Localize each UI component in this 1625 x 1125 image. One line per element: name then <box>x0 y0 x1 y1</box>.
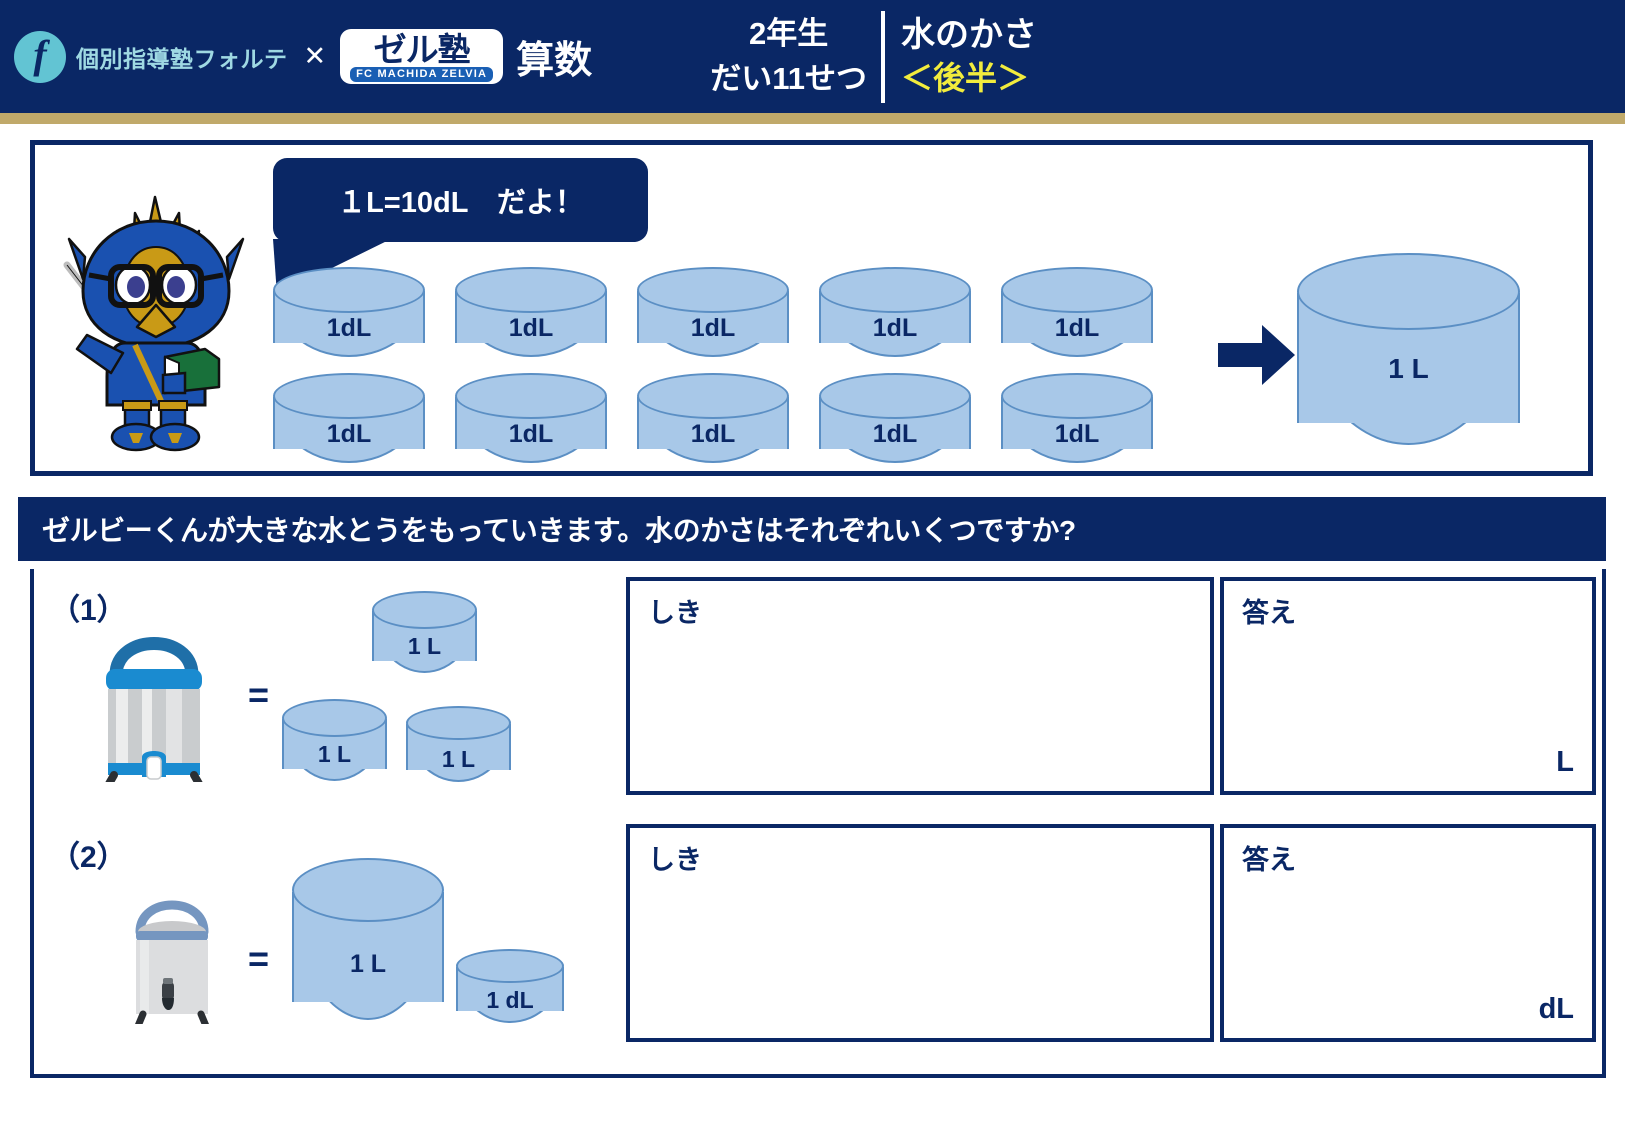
dl-cylinder-label: 1dL <box>455 420 607 449</box>
gray-water-jug-icon <box>116 874 228 1024</box>
forte-brand-name: 個別指導塾フォルテ <box>76 40 288 74</box>
dl-cylinder: 1dL <box>1001 267 1153 359</box>
dl-cylinder: 1dL <box>637 373 789 465</box>
blue-water-jug-icon <box>84 617 224 782</box>
answer-cylinder: 1 dL <box>456 949 564 1024</box>
dl-cylinder: 1dL <box>273 267 425 359</box>
answer-label: 答え <box>1242 838 1296 877</box>
result-cylinder-label: 1 L <box>1297 353 1520 385</box>
subject-label: 算数 <box>516 29 592 84</box>
answer-cylinder-label: 1 L <box>282 741 387 768</box>
question-banner: ゼルビーくんが大きな水とうをもっていきます。水のかさはそれぞれいくつですか? <box>18 497 1606 561</box>
result-cylinder: 1 L <box>1297 253 1520 450</box>
forte-logo-icon: f <box>14 31 66 83</box>
zeljuku-logo-main: ゼル塾 <box>374 33 470 67</box>
answer-label: 答え <box>1242 591 1296 630</box>
answer-unit: dL <box>1539 993 1574 1026</box>
equals-sign: = <box>248 674 269 716</box>
dl-cylinder-label: 1dL <box>1001 314 1153 343</box>
dl-cylinder-label: 1dL <box>819 314 971 343</box>
answer-cylinder: 1 L <box>292 858 444 1024</box>
grade-label: 2年生 <box>710 12 867 56</box>
question-row-2: （2） = 1 L <box>34 816 1602 1063</box>
answer-cylinder: 1 L <box>282 699 387 783</box>
dl-cylinder: 1dL <box>455 373 607 465</box>
question-banner-text: ゼルビーくんが大きな水とうをもっていきます。水のかさはそれぞれいくつですか? <box>18 509 1076 549</box>
formula-label: しき <box>648 838 702 877</box>
collab-cross-icon: ✕ <box>304 41 327 72</box>
dl-cylinder-row-1: 1dL 1dL 1dL 1dL <box>273 267 1173 359</box>
brand-lockup: f 個別指導塾フォルテ ✕ ゼル塾 FC MACHIDA ZELVIA 算数 <box>14 29 592 85</box>
dl-cylinder-label: 1dL <box>273 314 425 343</box>
question-row-1: （1） = 1 L <box>34 569 1602 816</box>
answer-cylinder: 1 L <box>406 706 511 784</box>
dl-cylinder-label: 1dL <box>455 314 607 343</box>
answer-unit: L <box>1556 746 1574 779</box>
dl-cylinder: 1dL <box>1001 373 1153 465</box>
forte-f-glyph: f <box>33 35 46 75</box>
explanation-panel: １L=10dL だよ！ 1dL 1dL 1d <box>30 140 1593 476</box>
speech-bubble-text: １L=10dL だよ！ <box>337 179 584 221</box>
answer-cylinder-label: 1 L <box>406 746 511 773</box>
formula-box[interactable]: しき <box>626 824 1214 1042</box>
dl-cylinder: 1dL <box>273 373 425 465</box>
dl-cylinder-label: 1dL <box>637 420 789 449</box>
equals-sign: = <box>248 938 269 980</box>
question-number: （2） <box>50 832 127 876</box>
dl-cylinder-label: 1dL <box>1001 420 1153 449</box>
dl-cylinder-row-2: 1dL 1dL 1dL 1dL <box>273 373 1173 465</box>
dl-cylinder-label: 1dL <box>637 314 789 343</box>
page-header: f 個別指導塾フォルテ ✕ ゼル塾 FC MACHIDA ZELVIA 算数 2… <box>0 0 1625 113</box>
dl-cylinder: 1dL <box>819 373 971 465</box>
speech-bubble: １L=10dL だよ！ <box>273 158 648 242</box>
dl-cylinder-grid: 1dL 1dL 1dL 1dL <box>273 267 1173 465</box>
section-label: だい11せつ <box>710 57 867 101</box>
dl-cylinder: 1dL <box>637 267 789 359</box>
unit-block: 水のかさ ＜後半＞ <box>885 14 1037 98</box>
header-gold-stripe <box>0 113 1625 124</box>
answer-cylinder-label: 1 L <box>372 633 477 660</box>
unit-part-badge: ＜後半＞ <box>901 58 1037 99</box>
arrow-right-icon <box>1218 323 1295 387</box>
answer-cylinder-label: 1 L <box>292 950 444 979</box>
answer-box[interactable]: 答え dL <box>1220 824 1596 1042</box>
zeljuku-logo-sub: FC MACHIDA ZELVIA <box>350 67 493 82</box>
zeljuku-logo: ゼル塾 FC MACHIDA ZELVIA <box>340 29 503 85</box>
dl-cylinder-label: 1dL <box>819 420 971 449</box>
formula-box[interactable]: しき <box>626 577 1214 795</box>
dl-cylinder: 1dL <box>819 267 971 359</box>
unit-title: 水のかさ <box>901 14 1037 58</box>
dl-cylinder-label: 1dL <box>273 420 425 449</box>
dl-cylinder: 1dL <box>455 267 607 359</box>
formula-label: しき <box>648 591 702 630</box>
answer-cylinder: 1 L <box>372 591 477 675</box>
answer-box[interactable]: 答え L <box>1220 577 1596 795</box>
header-title-block: 2年生 だい11せつ 水のかさ ＜後半＞ <box>710 0 1037 113</box>
zelby-mascot-icon <box>53 187 258 457</box>
answer-cylinder-label: 1 dL <box>456 987 564 1014</box>
grade-section-block: 2年生 だい11せつ <box>710 12 881 100</box>
questions-panel: （1） = 1 L <box>30 569 1606 1078</box>
